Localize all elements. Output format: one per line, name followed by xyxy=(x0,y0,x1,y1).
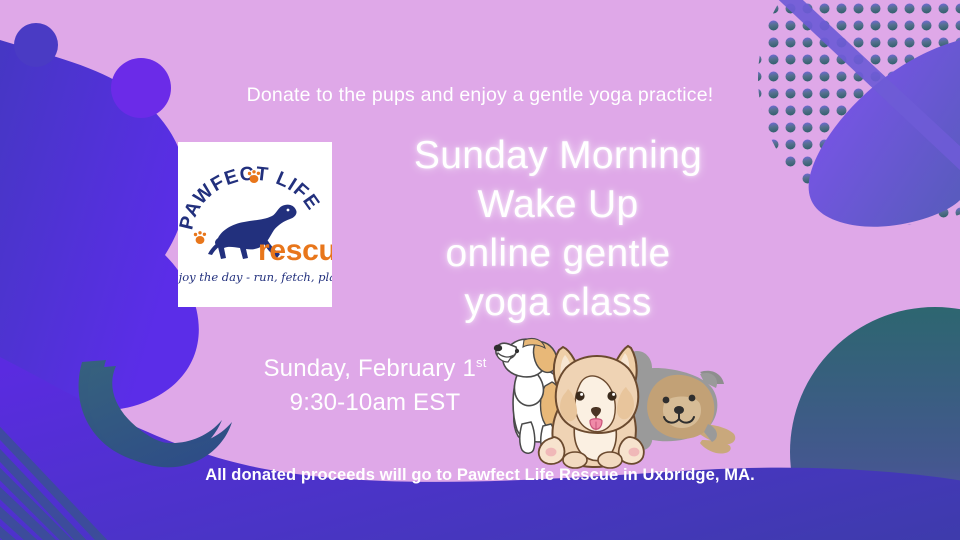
event-date-ordinal: st xyxy=(476,355,487,370)
headline-line-2: Wake Up xyxy=(348,180,768,229)
headline-line-1: Sunday Morning xyxy=(348,131,768,180)
headline-block: Sunday Morning Wake Up online gentle yog… xyxy=(348,131,768,327)
footer-note-text: All donated proceeds will go to Pawfect … xyxy=(0,466,960,485)
event-time: 9:30-10am EST xyxy=(200,386,550,420)
event-datetime-block: Sunday, February 1st 9:30-10am EST xyxy=(200,352,550,420)
headline-line-4: yoga class xyxy=(348,278,768,327)
tagline-text: Donate to the pups and enjoy a gentle yo… xyxy=(0,84,960,107)
event-date-text: Sunday, February 1 xyxy=(263,355,476,382)
poster-canvas: PAWFECT LIFE xyxy=(0,0,960,540)
poster-text-content: Donate to the pups and enjoy a gentle yo… xyxy=(0,0,960,540)
headline-line-3: online gentle xyxy=(348,229,768,278)
event-date: Sunday, February 1st xyxy=(200,352,550,386)
